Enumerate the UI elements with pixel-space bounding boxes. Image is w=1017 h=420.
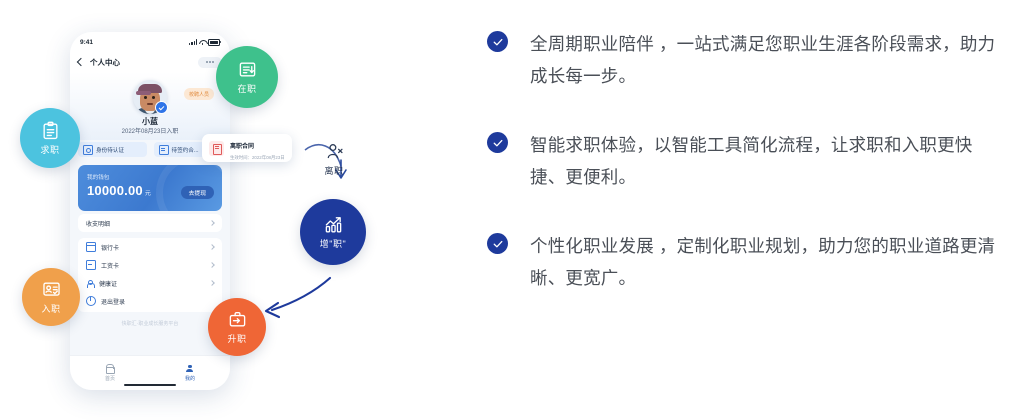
check-circle-icon xyxy=(487,233,508,254)
contract-document-icon xyxy=(209,141,224,156)
list-item-label: 健康证 xyxy=(99,279,117,288)
list-item-label: 银行卡 xyxy=(101,243,119,252)
badge-job-seeking[interactable]: 求职 xyxy=(20,108,80,168)
growth-chart-icon xyxy=(324,215,343,234)
withdraw-button[interactable]: 去提现 xyxy=(181,186,214,199)
badge-employed[interactable]: 在职 xyxy=(216,46,278,108)
status-badge: 校聘人员 xyxy=(184,88,214,100)
wallet-unit: 元 xyxy=(145,191,151,197)
list-item-transactions[interactable]: 收支明细 xyxy=(78,214,222,232)
bank-card-icon xyxy=(86,242,96,252)
tab-bar: 首页 我的 xyxy=(70,355,230,390)
phone-notch xyxy=(124,32,176,45)
home-icon xyxy=(106,365,115,373)
id-card-icon xyxy=(83,145,93,155)
chevron-left-icon[interactable] xyxy=(77,58,85,66)
status-chip-row: 身份待认证 待签约合... xyxy=(78,142,222,157)
tooltip-subtitle: 生效时间：2022年08月23日 xyxy=(230,155,285,161)
health-certificate-icon xyxy=(86,279,94,287)
badge-label: 增"职" xyxy=(320,237,346,250)
signal-icon xyxy=(189,39,197,45)
footnote: 快职汇·职业成长服务平台 xyxy=(70,320,230,327)
wallet-card: 我的钱包 10000.00元 去提现 xyxy=(78,165,222,211)
clipboard-icon xyxy=(41,121,60,140)
feature-text: 全周期职业陪伴 ，一站式满足您职业生涯各阶段需求，助力成长每一步。 xyxy=(530,28,1000,92)
settings-card: 银行卡 工资卡 健康证 退出登录 xyxy=(78,238,222,312)
list-item-label: 退出登录 xyxy=(101,297,125,306)
home-indicator xyxy=(124,384,176,387)
chip-identity-verify[interactable]: 身份待认证 xyxy=(78,142,147,157)
status-icons xyxy=(189,39,220,46)
avatar[interactable] xyxy=(133,80,167,114)
feature-text: 个性化职业发展 ，定制化职业规划，助力您的职业道路更清晰、更宽广。 xyxy=(530,230,1000,294)
tab-label: 我的 xyxy=(185,375,195,382)
tooltip-title: 离职合同 xyxy=(230,144,254,150)
check-circle-icon xyxy=(487,31,508,52)
badge-label: 升职 xyxy=(227,332,246,345)
phone-screen: 9:41 个人中心 xyxy=(70,32,230,390)
badge-label: 求职 xyxy=(40,143,59,156)
badge-promotion[interactable]: 升职 xyxy=(208,298,266,356)
tab-label: 首页 xyxy=(105,375,115,382)
wallet-amount: 10000.00元 xyxy=(87,183,151,198)
transactions-card: 收支明细 xyxy=(78,214,222,232)
list-item-health-certificate[interactable]: 健康证 xyxy=(78,274,222,292)
feature-list: 全周期职业陪伴 ，一站式满足您职业生涯各阶段需求，助力成长每一步。 智能求职体验… xyxy=(487,28,1007,331)
chevron-right-icon xyxy=(209,220,215,226)
phone-mockup: 9:41 个人中心 xyxy=(70,32,230,390)
wifi-icon xyxy=(199,39,206,45)
contract-tooltip-card[interactable]: 离职合同 生效时间：2022年08月23日 xyxy=(202,134,292,162)
power-icon xyxy=(86,296,96,306)
chevron-right-icon xyxy=(209,280,215,286)
wallet-amount-value: 10000.00 xyxy=(87,183,143,198)
chevron-right-icon xyxy=(209,262,215,268)
badge-growth[interactable]: 增"职" xyxy=(300,199,366,265)
salary-card-icon xyxy=(86,260,96,270)
badge-label: 离职 xyxy=(324,166,343,176)
badge-label: 在职 xyxy=(237,82,256,95)
nav-bar: 个人中心 xyxy=(70,52,230,72)
list-item-bank-card[interactable]: 银行卡 xyxy=(78,238,222,256)
feature-item: 智能求职体验，以智能工具简化流程，让求职和入职更快捷、更便利。 xyxy=(487,129,1007,193)
list-item-label: 收支明细 xyxy=(86,219,110,228)
chip-label: 身份待认证 xyxy=(96,146,124,154)
verified-check-icon xyxy=(155,101,168,114)
wallet-label: 我的钱包 xyxy=(87,173,109,181)
feature-text: 智能求职体验，以智能工具简化流程，让求职和入职更快捷、更便利。 xyxy=(530,129,1000,193)
contract-icon xyxy=(159,145,169,155)
list-item-logout[interactable]: 退出登录 xyxy=(78,292,222,310)
list-item-salary-card[interactable]: 工资卡 xyxy=(78,256,222,274)
chip-label: 待签约合... xyxy=(172,146,199,154)
tooltip-text: 离职合同 生效时间：2022年08月23日 xyxy=(230,135,285,162)
feature-item: 个性化职业发展 ，定制化职业规划，助力您的职业道路更清晰、更宽广。 xyxy=(487,230,1007,294)
chevron-right-icon xyxy=(209,244,215,250)
badge-onboarding[interactable]: 入职 xyxy=(22,268,80,326)
check-circle-icon xyxy=(487,132,508,153)
document-down-icon xyxy=(238,60,257,79)
list-item-label: 工资卡 xyxy=(101,261,119,270)
feature-item: 全周期职业陪伴 ，一站式满足您职业生涯各阶段需求，助力成长每一步。 xyxy=(487,28,1007,92)
profile-hero: 校聘人员 小蓝 2022年08月23日入职 xyxy=(70,72,230,140)
person-icon xyxy=(186,365,195,373)
phone-illustration: 9:41 个人中心 xyxy=(0,0,470,420)
page-title: 个人中心 xyxy=(90,57,120,68)
battery-icon xyxy=(208,39,220,46)
status-time: 9:41 xyxy=(80,39,93,46)
badge-resignation[interactable]: 离职 xyxy=(314,142,354,179)
badge-label: 入职 xyxy=(41,302,60,315)
page-root: 9:41 个人中心 xyxy=(0,0,1017,420)
person-remove-icon xyxy=(314,142,354,161)
id-badge-icon xyxy=(42,280,61,299)
briefcase-icon xyxy=(228,310,247,329)
